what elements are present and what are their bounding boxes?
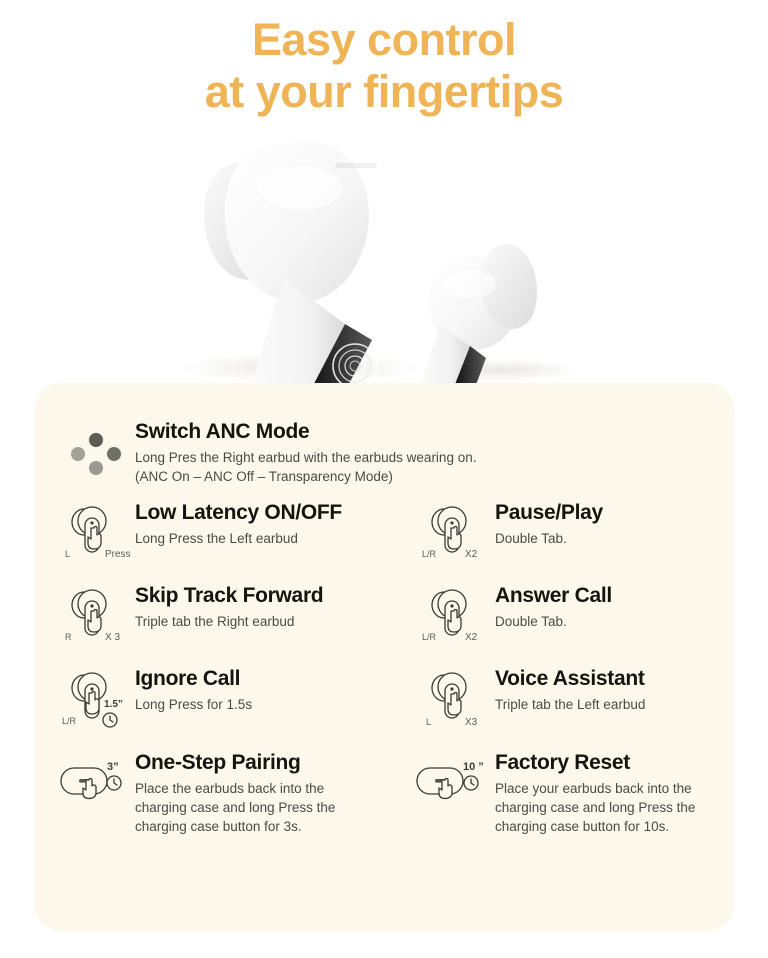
feature-title: Switch ANC Mode (135, 419, 476, 445)
badge-side: L/R (62, 716, 77, 726)
feature-item-voice-assistant: L X3 Voice Assistant Triple tab the Left… (417, 666, 733, 730)
clock-icon (107, 776, 121, 790)
feature-title: Voice Assistant (495, 666, 645, 692)
badge-time: 10 ” (463, 761, 484, 773)
clock-icon (103, 713, 117, 727)
feature-description: Double Tab. (495, 612, 612, 631)
feature-description-line: Long Pres the Right earbud with the earb… (135, 448, 476, 467)
badge-side: L (65, 549, 70, 559)
feature-description-line: Long Press for 1.5s (135, 695, 252, 714)
badge-time: 1.5” (104, 699, 123, 710)
feature-description: Place the earbuds back into the charging… (135, 779, 335, 836)
earbud-tap-icon: L X3 (417, 666, 495, 730)
badge-count: X2 (465, 632, 478, 643)
badge-count: X2 (465, 549, 478, 560)
charging-case-tap-icon: 10 ” (417, 750, 495, 806)
feature-title: Ignore Call (135, 666, 252, 692)
feature-list: Switch ANC Mode Long Pres the Right earb… (35, 383, 734, 836)
feature-title: One-Step Pairing (135, 750, 335, 776)
earbud-tap-icon: L/R X2 (417, 583, 495, 645)
feature-description-line: (ANC On – ANC Off – Transparency Mode) (135, 467, 476, 486)
feature-description: Long Pres the Right earbud with the earb… (135, 448, 476, 486)
feature-description: Long Press the Left earbud (135, 529, 342, 548)
feature-title: Factory Reset (495, 750, 695, 776)
brand-mark (335, 163, 377, 168)
badge-time: 3” (107, 761, 119, 773)
hero-section: Easy control at your fingertips (0, 0, 768, 383)
feature-title: Answer Call (495, 583, 612, 609)
clock-icon (464, 776, 478, 790)
badge-count: X3 (465, 717, 478, 728)
feature-title: Pause/Play (495, 500, 603, 526)
feature-description: Triple tab the Right earbud (135, 612, 323, 631)
product-photo (0, 118, 768, 383)
feature-description-line: charging case button for 3s. (135, 817, 335, 836)
feature-description-line: charging case and long Press the (135, 798, 335, 817)
feature-description: Triple tab the Left earbud (495, 695, 645, 714)
earbud-tap-icon: L/R X2 (417, 500, 495, 562)
feature-item-answer-call: L/R X2 Answer Call Double Tab. (417, 583, 733, 645)
feature-description-line: Place the earbuds back into the (135, 779, 335, 798)
feature-row: L Press Low Latency ON/OFF Long Press th… (35, 500, 734, 562)
feature-title: Low Latency ON/OFF (135, 500, 342, 526)
page-title: Easy control at your fingertips (0, 0, 768, 118)
badge-side: L (426, 717, 431, 727)
earbud-tap-icon: R X 3 (57, 583, 135, 645)
badge-count: X 3 (105, 632, 120, 643)
badge-count: Press (105, 549, 131, 560)
page-title-line-2: at your fingertips (0, 66, 768, 118)
page-title-line-1: Easy control (0, 14, 768, 66)
feature-description-line: charging case button for 10s. (495, 817, 695, 836)
feature-row: 3” One-Step Pairing Place the earbuds ba… (35, 750, 734, 836)
feature-panel: Switch ANC Mode Long Pres the Right earb… (35, 383, 734, 931)
feature-description: Double Tab. (495, 529, 603, 548)
badge-side: R (65, 632, 72, 642)
feature-item-one-step-pairing: 3” One-Step Pairing Place the earbuds ba… (57, 750, 417, 836)
feature-title: Skip Track Forward (135, 583, 323, 609)
feature-description-line: Double Tab. (495, 529, 603, 548)
feature-item-switch-anc-mode: Switch ANC Mode Long Pres the Right earb… (35, 419, 734, 486)
feature-description-line: charging case and long Press the (495, 798, 695, 817)
feature-item-ignore-call: L/R 1.5” Ignore Call Long Press for 1.5s (57, 666, 417, 730)
earbud-tap-icon: L Press (57, 500, 135, 562)
feature-description-line: Place your earbuds back into the (495, 779, 695, 798)
feature-description-line: Long Press the Left earbud (135, 529, 342, 548)
feature-item-low-latency-on-off: L Press Low Latency ON/OFF Long Press th… (57, 500, 417, 562)
feature-item-pause-play: L/R X2 Pause/Play Double Tab. (417, 500, 733, 562)
badge-side: L/R (422, 632, 437, 642)
feature-item-factory-reset: 10 ” Factory Reset Place your earbuds ba… (417, 750, 733, 836)
charging-case-tap-icon: 3” (57, 750, 135, 806)
feature-description-line: Triple tab the Right earbud (135, 612, 323, 631)
feature-description-line: Triple tab the Left earbud (495, 695, 645, 714)
feature-row: R X 3 Skip Track Forward Triple tab the … (35, 583, 734, 645)
feature-description: Place your earbuds back into the chargin… (495, 779, 695, 836)
earbud-tap-clock-icon: L/R 1.5” (57, 666, 135, 730)
badge-side: L/R (422, 549, 437, 559)
anc-dots-icon (57, 419, 135, 477)
feature-row: L/R 1.5” Ignore Call Long Press for 1.5s (35, 666, 734, 730)
feature-description-line: Double Tab. (495, 612, 612, 631)
feature-description: Long Press for 1.5s (135, 695, 252, 714)
feature-item-skip-track-forward: R X 3 Skip Track Forward Triple tab the … (57, 583, 417, 645)
